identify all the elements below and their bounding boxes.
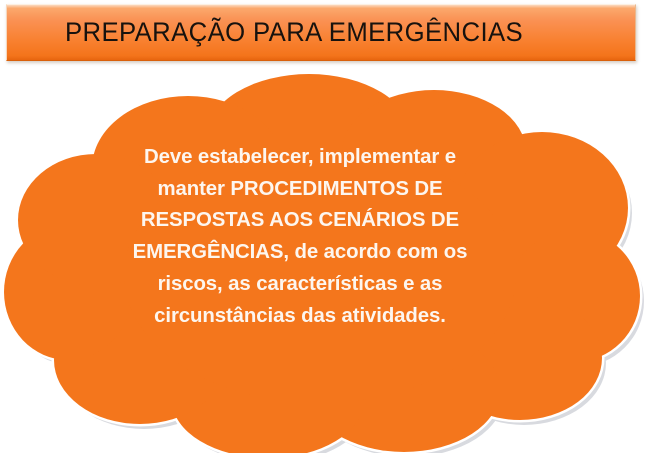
cloud-message-line-1: Deve estabelecer, implementar e bbox=[78, 142, 522, 174]
cloud-message-line-4: EMERGÊNCIAS, de acordo com os bbox=[78, 237, 522, 269]
cloud-message-line-3: RESPOSTAS AOS CENÁRIOS DE bbox=[78, 205, 522, 237]
title-banner: PREPARAÇÃO PARA EMERGÊNCIAS bbox=[6, 4, 636, 61]
page-title: PREPARAÇÃO PARA EMERGÊNCIAS bbox=[65, 19, 523, 46]
cloud-message: Deve estabelecer, implementar e manter P… bbox=[78, 142, 522, 332]
cloud-message-line-6: circunstâncias das atividades. bbox=[78, 301, 522, 333]
slide-canvas: PREPARAÇÃO PARA EMERGÊNCIAS bbox=[0, 0, 649, 453]
cloud-callout: Deve estabelecer, implementar e manter P… bbox=[0, 60, 649, 453]
cloud-message-line-2: manter PROCEDIMENTOS DE bbox=[78, 174, 522, 206]
cloud-message-line-5: riscos, as características e as bbox=[78, 269, 522, 301]
